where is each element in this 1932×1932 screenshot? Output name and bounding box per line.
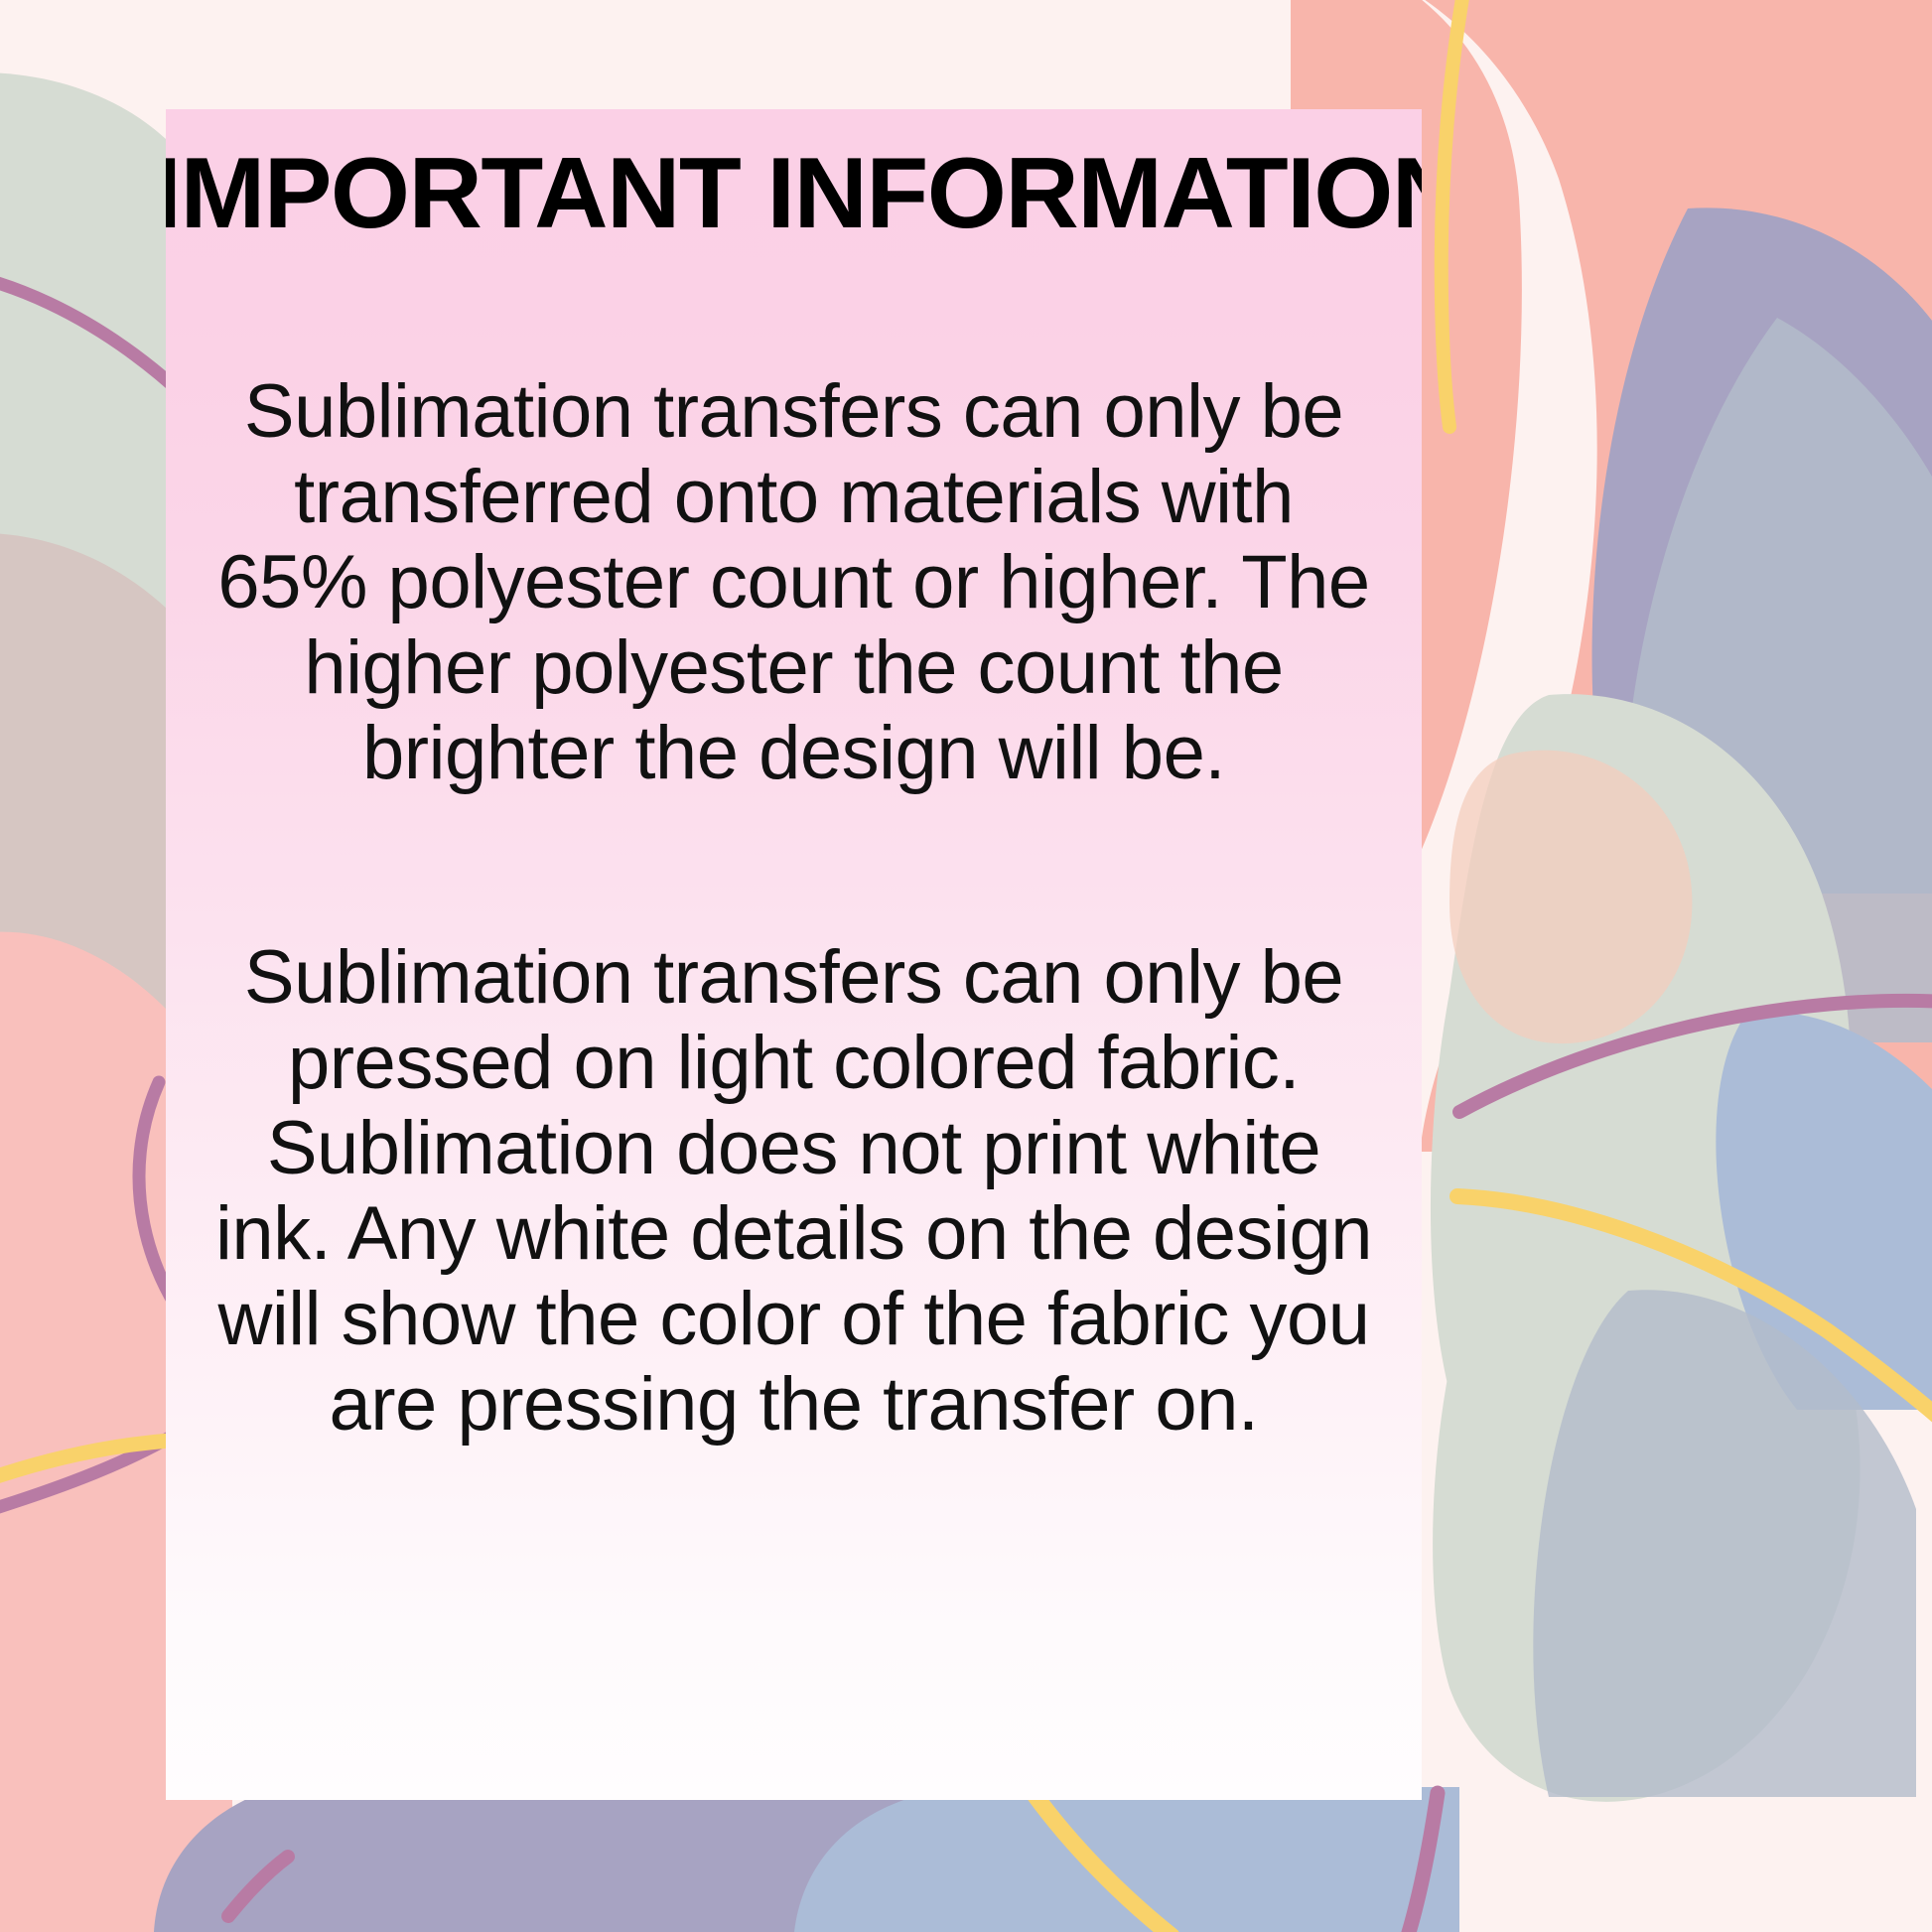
- paragraph-spacer: [211, 796, 1376, 935]
- poster-canvas: IMPORTANT INFORMATION Sublimation transf…: [0, 0, 1932, 1932]
- card-title: IMPORTANT INFORMATION: [166, 135, 1422, 253]
- blob-blue-bottom: [794, 1787, 1459, 1932]
- info-paragraph-light-fabric: Sublimation transfers can only be presse…: [211, 935, 1376, 1448]
- important-information-card: IMPORTANT INFORMATION Sublimation transf…: [166, 109, 1422, 1800]
- info-paragraph-polyester: Sublimation transfers can only be transf…: [211, 369, 1376, 796]
- card-body: Sublimation transfers can only be transf…: [211, 369, 1376, 1448]
